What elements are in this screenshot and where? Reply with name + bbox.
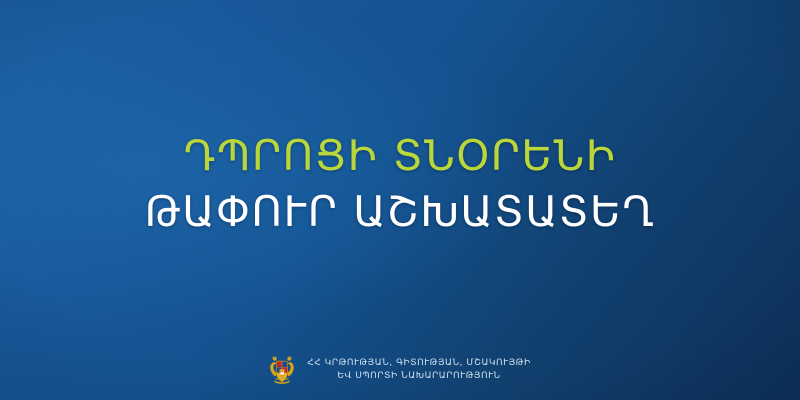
ministry-name: ՀՀ ԿՐԹՈՒԹՅԱՆ, ԳԻՏՈՒԹՅԱՆ, ՄՇԱԿՈՒՅԹԻ ԵՎ ՍՊ…: [307, 357, 530, 383]
ministry-line-1: ՀՀ ԿՐԹՈՒԹՅԱՆ, ԳԻՏՈՒԹՅԱՆ, ՄՇԱԿՈՒՅԹԻ: [307, 357, 530, 370]
footer-ministry-block: ՀՀ ԿՐԹՈՒԹՅԱՆ, ԳԻՏՈՒԹՅԱՆ, ՄՇԱԿՈՒՅԹԻ ԵՎ ՍՊ…: [0, 354, 800, 386]
ministry-line-2: ԵՎ ՍՊՈՐՏԻ ՆԱԽԱՐԱՐՈՒԹՅՈՒՆ: [337, 370, 500, 383]
announcement-banner: ԴՊՐՈՑԻ ՏՆՕՐԵՆԻ ԹԱՓՈՒՐ ԱՇԽԱՏԱՏԵՂ: [0, 0, 800, 400]
headline-line-2: ԹԱՓՈՒՐ ԱՇԽԱՏԱՏԵՂ: [0, 184, 800, 240]
armenia-coat-of-arms-icon: [269, 354, 295, 386]
headline-block: ԴՊՐՈՑԻ ՏՆՕՐԵՆԻ ԹԱՓՈՒՐ ԱՇԽԱՏԱՏԵՂ: [0, 128, 800, 240]
headline-line-1: ԴՊՐՈՑԻ ՏՆՕՐԵՆԻ: [0, 128, 800, 184]
